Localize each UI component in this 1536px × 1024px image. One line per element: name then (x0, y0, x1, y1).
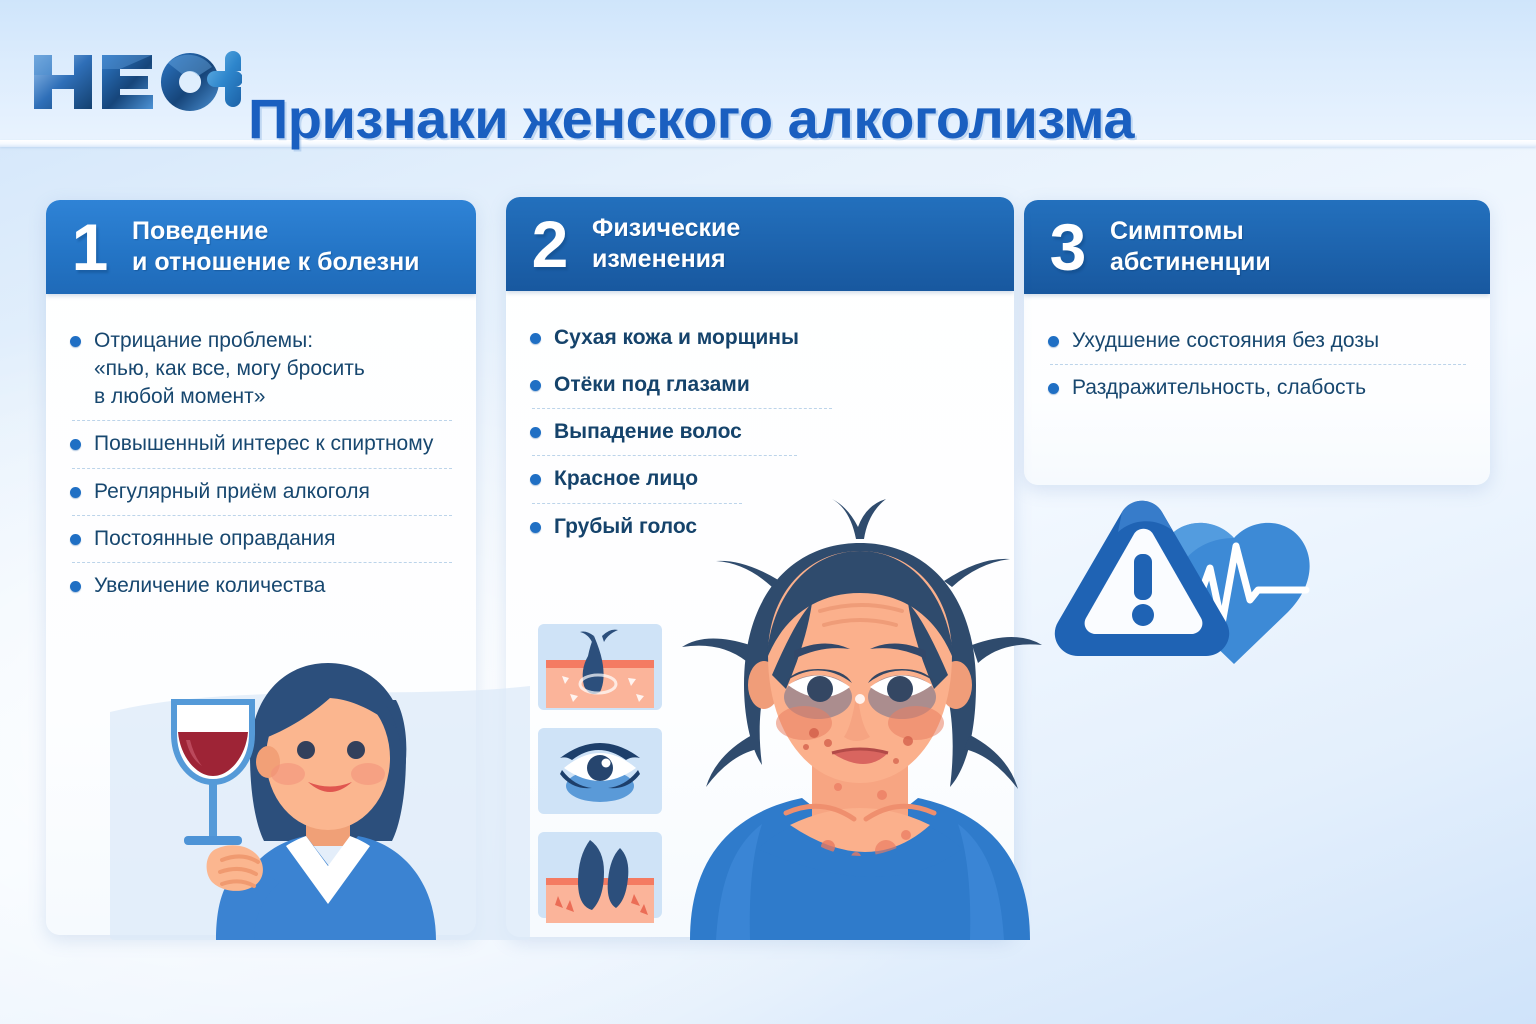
list-item[interactable]: Раздражительность, слабость (1048, 365, 1468, 411)
warning-and-heartbeat-illustration (1046, 498, 1346, 678)
list-item[interactable]: Сухая кожа и морщины (530, 315, 992, 361)
infographic-canvas: Признаки женского алкоголизма 1 Поведени… (0, 0, 1536, 1024)
list-item-label: Повышенный интерес к спиртному (94, 430, 433, 458)
card-2-title-line1: Физические (592, 213, 740, 244)
bullet-icon (530, 380, 541, 391)
heartbeat-heart-icon (1156, 523, 1310, 664)
bullet-icon (70, 581, 81, 592)
list-item[interactable]: Увеличение количества (70, 563, 454, 609)
card-withdrawal-symptoms: 3 Симптомы абстиненции Ухудшение состоян… (1024, 200, 1490, 485)
list-item-label: Ухудшение состояния без дозы (1072, 327, 1379, 355)
list-item-label: Увеличение количества (94, 572, 325, 600)
card-3-title-line1: Симптомы (1110, 216, 1271, 247)
list-item[interactable]: Регулярный приём алкоголя (70, 469, 454, 515)
card-3-title-line2: абстиненции (1110, 247, 1271, 278)
list-item[interactable]: Ухудшение состояния без дозы (1048, 318, 1468, 364)
list-item[interactable]: Красное лицо (530, 456, 992, 502)
list-item[interactable]: Отёки под глазами (530, 362, 992, 408)
card-physical-changes: 2 Физические изменения Сухая кожа и морщ… (506, 197, 1014, 937)
bullet-icon (530, 522, 541, 533)
card-2-header: 2 Физические изменения (506, 197, 1014, 291)
neo-plus-logo-icon (30, 46, 242, 118)
card-1-title: Поведение и отношение к болезни (132, 216, 420, 278)
card-2-title: Физические изменения (592, 213, 740, 275)
list-item[interactable]: Отрицание проблемы: «пью, как все, могу … (70, 318, 454, 420)
card-3-list: Ухудшение состояния без дозы Раздражител… (1024, 294, 1490, 421)
bullet-icon (1048, 383, 1059, 394)
list-item-label: Сухая кожа и морщины (554, 324, 799, 352)
card-2-list: Сухая кожа и морщины Отёки под глазами В… (506, 291, 1014, 560)
list-item-label: Регулярный приём алкоголя (94, 478, 370, 506)
list-item-label: Выпадение волос (554, 418, 742, 446)
warning-triangle-icon (1055, 501, 1229, 656)
card-1-title-line2: и отношение к болезни (132, 247, 420, 278)
list-item[interactable]: Повышенный интерес к спиртному (70, 421, 454, 467)
card-1-number: 1 (62, 219, 118, 276)
bullet-icon (530, 333, 541, 344)
list-item-label: Грубый голос (554, 513, 697, 541)
list-item-label: Постоянные оправдания (94, 525, 335, 553)
card-3-header: 3 Симптомы абстиненции (1024, 200, 1490, 294)
card-3-title: Симптомы абстиненции (1110, 216, 1271, 278)
bullet-icon (530, 474, 541, 485)
list-item-label: Отрицание проблемы: «пью, как все, могу … (94, 327, 365, 411)
bullet-icon (70, 336, 81, 347)
list-item[interactable]: Постоянные оправдания (70, 516, 454, 562)
list-item-label: Отёки под глазами (554, 371, 750, 399)
bullet-icon (70, 487, 81, 498)
list-item-label: Красное лицо (554, 465, 698, 493)
card-behavior: 1 Поведение и отношение к болезни Отрица… (46, 200, 476, 935)
card-3-number: 3 (1040, 219, 1096, 276)
page-title: Признаки женского алкоголизма (248, 86, 1134, 151)
bullet-icon (1048, 336, 1059, 347)
card-1-title-line1: Поведение (132, 216, 420, 247)
bullet-icon (530, 427, 541, 438)
bullet-icon (70, 534, 81, 545)
bullet-icon (70, 439, 81, 450)
list-item[interactable]: Выпадение волос (530, 409, 992, 455)
list-item-label: Раздражительность, слабость (1072, 374, 1366, 402)
card-1-list: Отрицание проблемы: «пью, как все, могу … (46, 294, 476, 619)
card-1-header: 1 Поведение и отношение к болезни (46, 200, 476, 294)
card-2-number: 2 (522, 216, 578, 273)
list-item[interactable]: Грубый голос (530, 504, 992, 550)
card-2-title-line2: изменения (592, 244, 740, 275)
